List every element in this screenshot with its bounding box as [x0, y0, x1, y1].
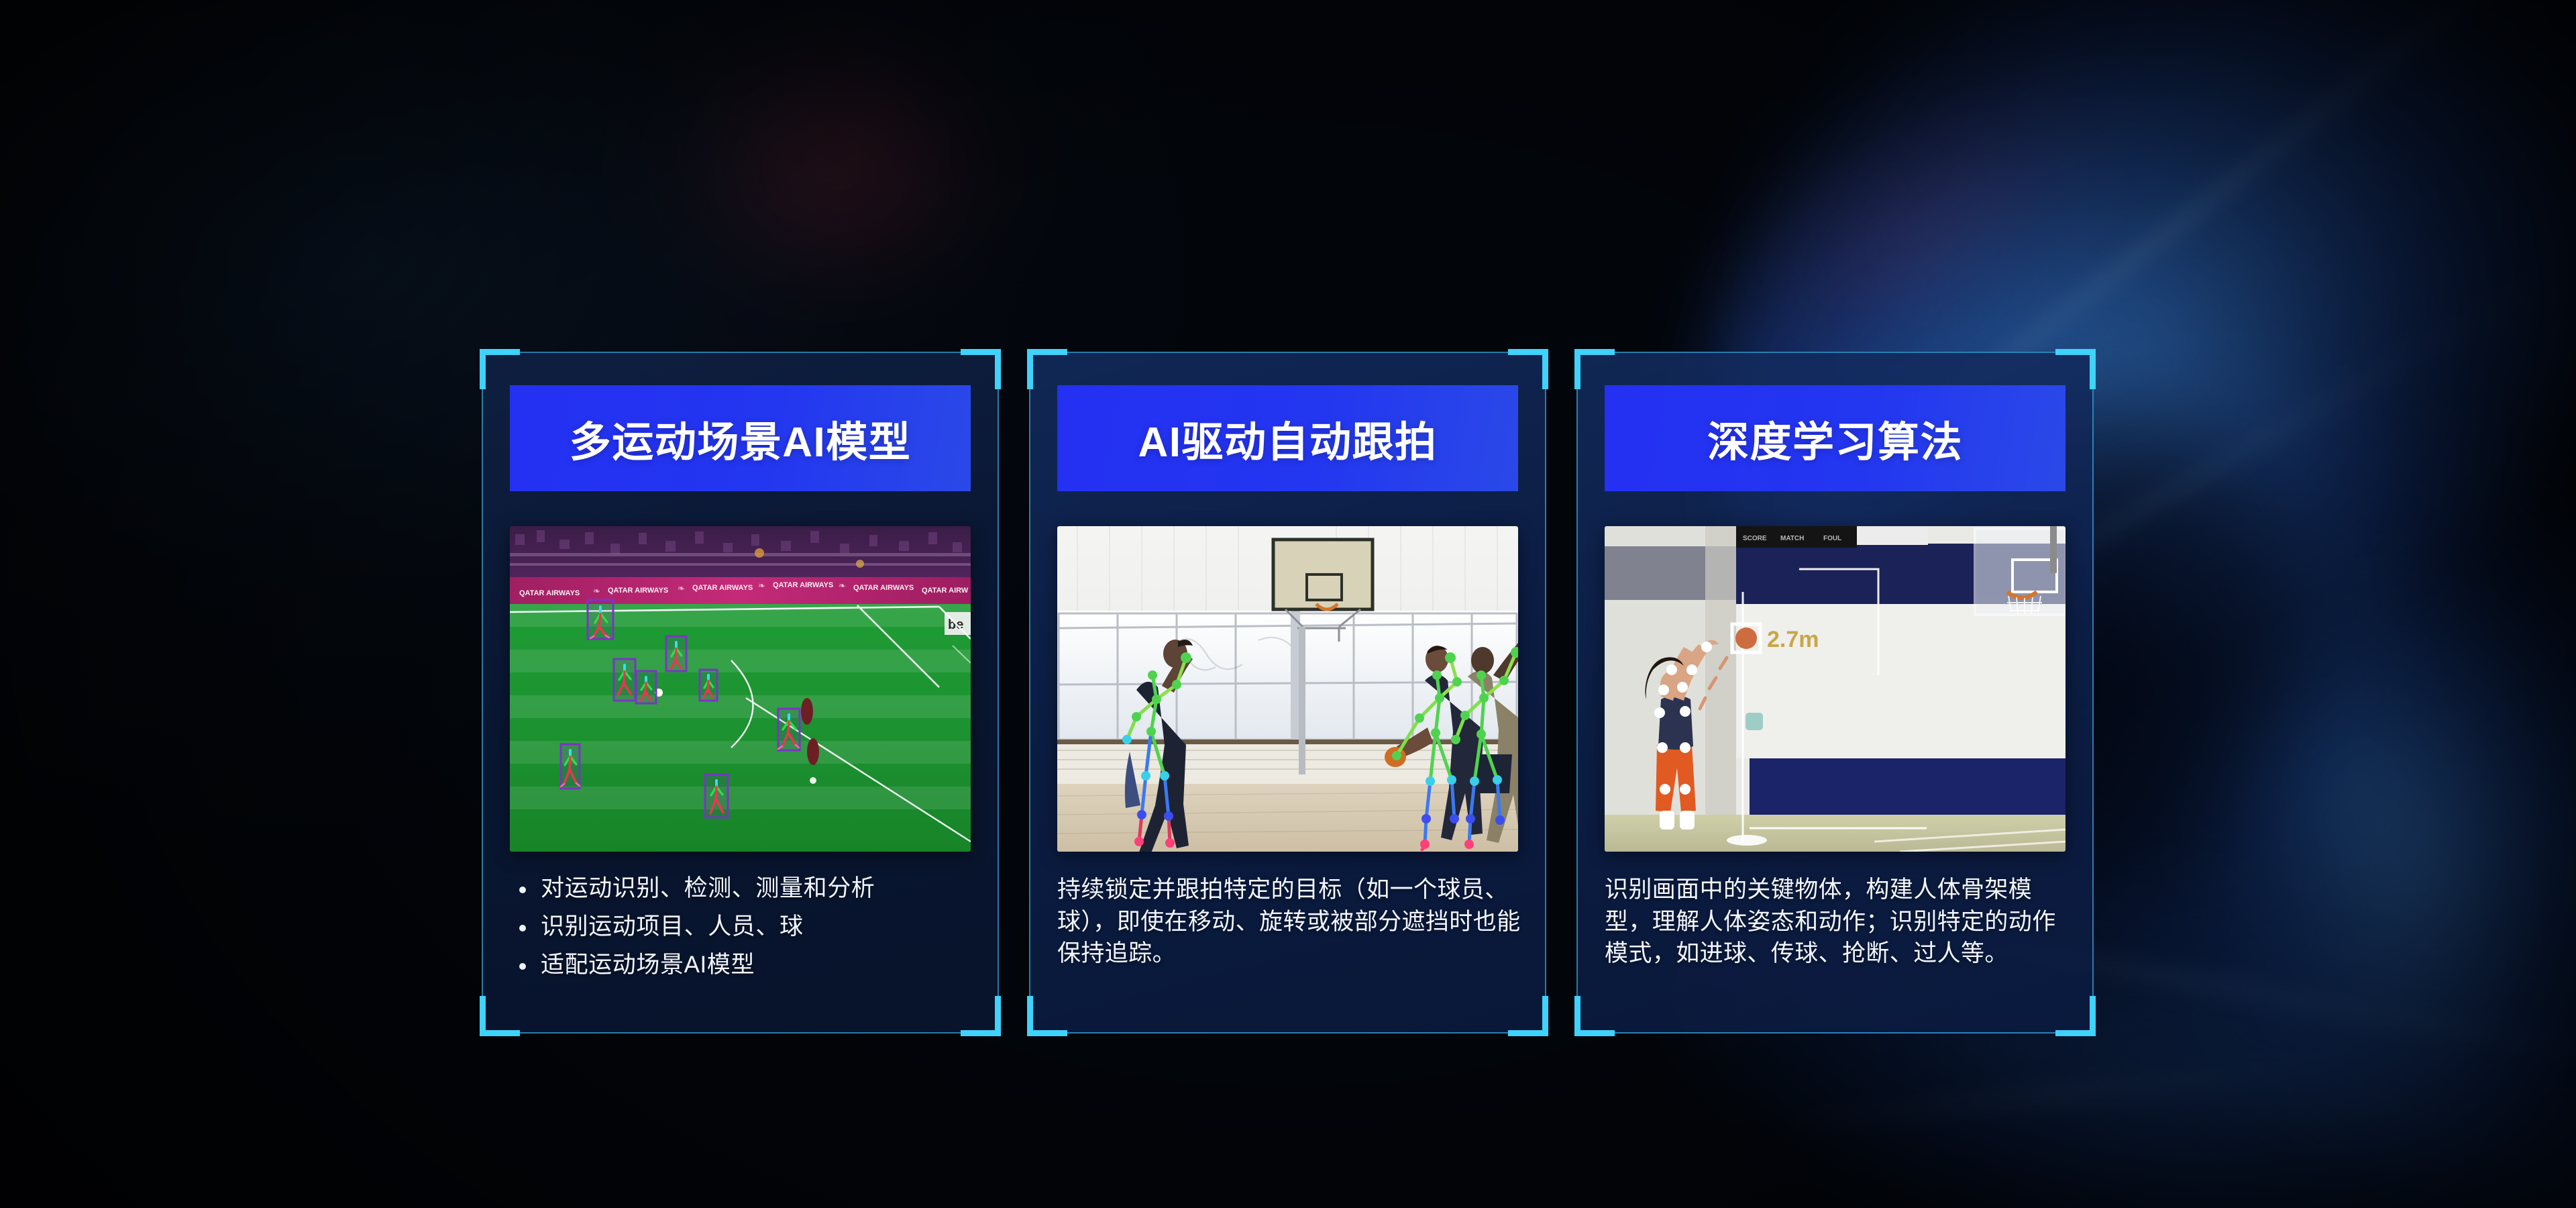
feature-card-deep-learning-algorithm[interactable]: 深度学习算法 SCORE MATCH [1576, 352, 2094, 1034]
feature-card-row: 多运动场景AI模型 [482, 352, 2094, 1038]
scoreboard-label-score: SCORE [1743, 535, 1767, 542]
svg-text:❧: ❧ [758, 581, 765, 591]
svg-text:QATAR AIRWAYS: QATAR AIRWAYS [608, 587, 668, 595]
svg-text:❧: ❧ [593, 586, 600, 596]
svg-text:QATAR AIRWAYS: QATAR AIRWAYS [519, 589, 580, 597]
soccer-pitch-detection-illustration: QATAR AIRWAYS QATAR AIRWAYS QATAR AIRWAY… [510, 526, 971, 852]
svg-text:QATAR AIRWAYS: QATAR AIRWAYS [773, 581, 833, 589]
card-media-basketball-measure: SCORE MATCH FOUL [1605, 526, 2065, 852]
feature-description: 持续锁定并跟拍特定的目标（如一个球员、球），即使在移动、旋转或被部分遮挡时也能保… [1057, 874, 1525, 970]
measure-label: 2.7m [1767, 627, 1819, 652]
card-media-gym-pose-tracking [1057, 526, 1518, 852]
feature-description: 识别画面中的关键物体，构建人体骨架模型，理解人体姿态和动作；识别特定的动作模式，… [1605, 874, 2072, 970]
card-media-soccer-detection: QATAR AIRWAYS QATAR AIRWAYS QATAR AIRWAY… [510, 526, 971, 852]
scoreboard-label-match: MATCH [1780, 535, 1804, 542]
list-item: 适配运动场景AI模型 [510, 950, 977, 980]
svg-text:QATAR AIRWAYS: QATAR AIRWAYS [853, 584, 914, 592]
feature-bullet-list: 对运动识别、检测、测量和分析 识别运动项目、人员、球 适配运动场景AI模型 [510, 874, 977, 980]
scoreboard-label-foul: FOUL [1823, 535, 1841, 542]
card-body: 识别画面中的关键物体，构建人体骨架模型，理解人体姿态和动作；识别特定的动作模式，… [1605, 874, 2072, 970]
card-body: 对运动识别、检测、测量和分析 识别运动项目、人员、球 适配运动场景AI模型 [510, 874, 977, 988]
card-body: 持续锁定并跟拍特定的目标（如一个球员、球），即使在移动、旋转或被部分遮挡时也能保… [1057, 874, 1525, 970]
card-title-bar: 深度学习算法 [1605, 385, 2065, 491]
card-title-text: 多运动场景AI模型 [570, 408, 912, 468]
card-title-bar: AI驱动自动跟拍 [1057, 385, 1518, 491]
svg-text:❧: ❧ [839, 581, 846, 591]
card-title-text: 深度学习算法 [1707, 408, 1963, 468]
basketball-shot-measure-illustration: SCORE MATCH FOUL [1605, 526, 2065, 852]
feature-card-ai-auto-tracking[interactable]: AI驱动自动跟拍 [1029, 352, 1546, 1034]
card-title-bar: 多运动场景AI模型 [510, 385, 971, 491]
feature-card-multi-sport-ai-model[interactable]: 多运动场景AI模型 [482, 352, 999, 1034]
svg-text:QATAR AIRW: QATAR AIRW [922, 587, 969, 595]
card-title-text: AI驱动自动跟拍 [1138, 408, 1437, 468]
svg-text:QATAR AIRWAYS: QATAR AIRWAYS [692, 584, 753, 592]
list-item: 识别运动项目、人员、球 [510, 912, 977, 942]
gym-pose-tracking-illustration [1057, 526, 1518, 852]
svg-text:❧: ❧ [678, 583, 685, 593]
list-item: 对运动识别、检测、测量和分析 [510, 874, 977, 904]
